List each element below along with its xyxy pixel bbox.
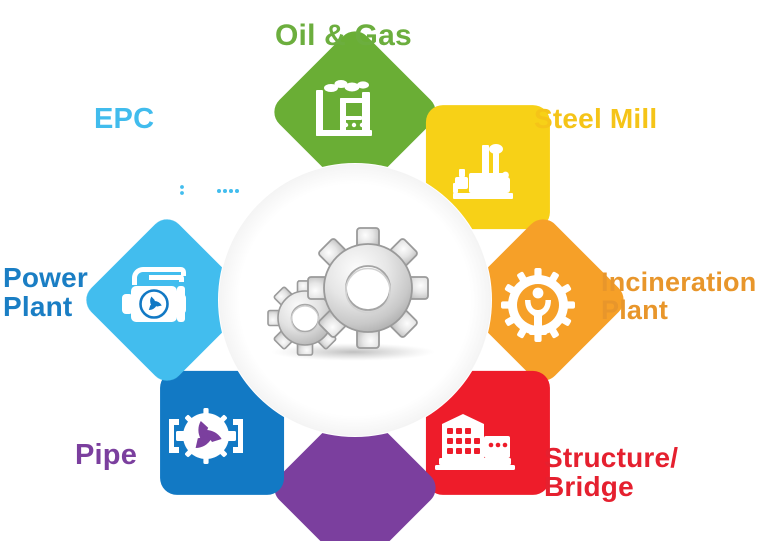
label-oil-gas: Oil & Gas	[275, 20, 412, 51]
industrial-plant-icon	[174, 150, 242, 203]
infographic-canvas: Oil & Gas Steel Mill Incineration Plant …	[0, 0, 774, 541]
label-incineration-plant: Incineration Plant	[601, 268, 756, 324]
label-pipe: Pipe	[75, 440, 137, 470]
gear-shadow	[271, 343, 435, 361]
label-structure-bridge: Structure/ Bridge	[544, 443, 678, 501]
label-power-plant: Power Plant	[3, 263, 88, 321]
large-gear-icon	[308, 228, 428, 348]
label-steel-mill: Steel Mill	[534, 104, 657, 133]
label-epc: EPC	[94, 104, 154, 134]
